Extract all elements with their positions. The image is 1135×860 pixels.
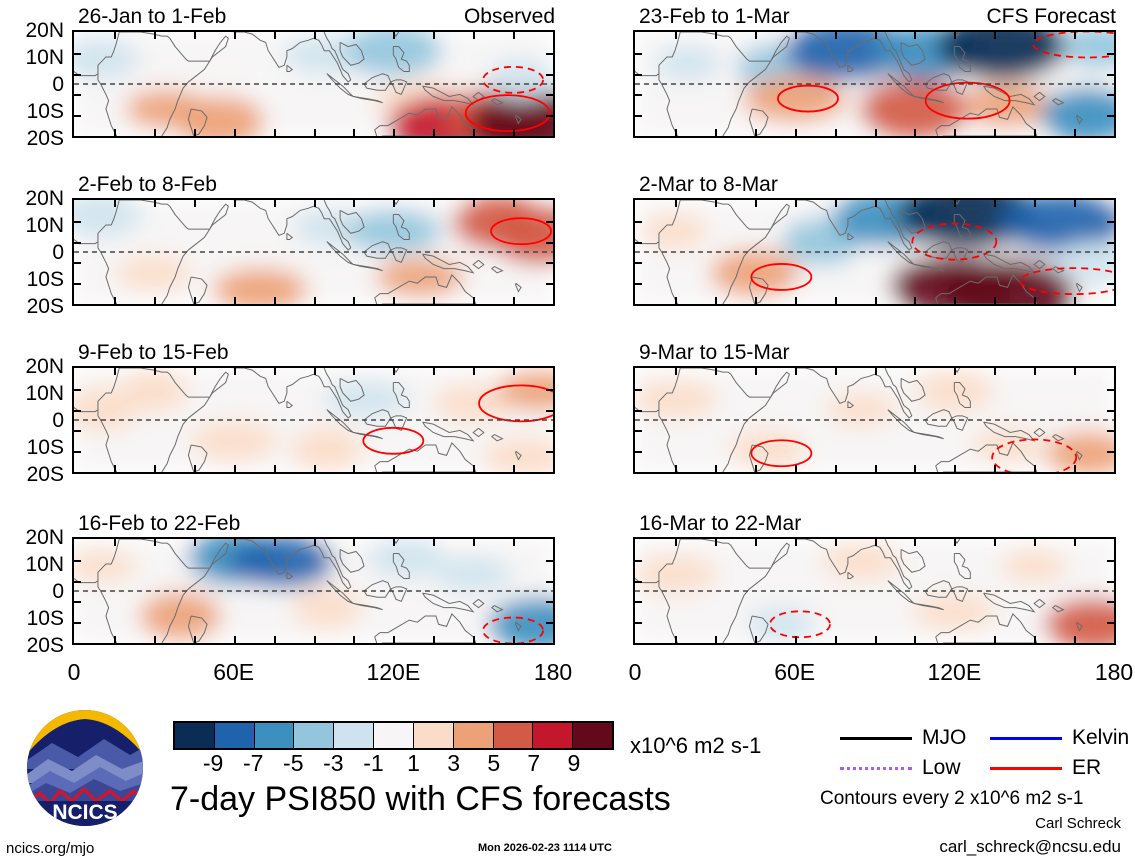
colorbar-swatch <box>494 723 534 748</box>
site-url[interactable]: ncics.org/mjo <box>6 841 94 856</box>
x-axis-tick-label: 180 <box>1069 661 1135 684</box>
y-axis-tick-label: 10S <box>0 269 64 290</box>
axis-tick <box>755 297 757 304</box>
axis-tick <box>353 368 355 375</box>
axis-tick <box>675 297 677 304</box>
y-axis-tick-label: 0 <box>0 74 64 95</box>
y-axis-tick-label: 20S <box>0 464 64 485</box>
axis-tick <box>914 297 916 304</box>
y-axis-tick-label: 0 <box>0 410 64 431</box>
figure-title: 7-day PSI850 with CFS forecasts <box>170 782 671 816</box>
axis-tick <box>635 560 642 562</box>
axis-tick <box>74 94 81 96</box>
axis-tick <box>875 539 877 546</box>
axis-tick <box>546 94 553 96</box>
axis-tick <box>194 297 196 304</box>
axis-tick <box>1107 94 1114 96</box>
axis-tick <box>433 539 435 546</box>
ncics-logo[interactable]: NCICS <box>26 709 144 827</box>
colorbar-swatch <box>573 723 612 748</box>
axis-tick <box>914 32 916 39</box>
y-axis-tick-label: 20N <box>0 527 64 548</box>
axis-tick <box>835 368 837 375</box>
map-field <box>635 200 1114 304</box>
y-axis-tick-label: 0 <box>0 581 64 602</box>
axis-tick <box>994 368 996 375</box>
axis-tick <box>914 539 916 546</box>
panel-title: 9-Mar to 15-Mar <box>639 342 790 363</box>
axis-tick <box>353 32 355 39</box>
author-email: carl_schreck@ncsu.edu <box>939 838 1121 855</box>
axis-tick <box>74 410 81 412</box>
axis-tick <box>914 129 916 136</box>
colorbar-swatch <box>414 723 454 748</box>
axis-tick <box>513 32 515 39</box>
axis-tick <box>353 539 355 546</box>
axis-tick <box>546 242 553 244</box>
panel-title: 16-Feb to 22-Feb <box>78 513 240 534</box>
axis-tick <box>1107 221 1114 223</box>
axis-tick <box>274 297 276 304</box>
axis-tick <box>74 221 81 223</box>
colorbar-swatch <box>533 723 573 748</box>
axis-tick <box>74 622 81 624</box>
axis-tick <box>1074 129 1076 136</box>
axis-tick <box>546 221 553 223</box>
axis-tick <box>513 465 515 472</box>
map-field <box>74 539 553 643</box>
axis-tick <box>835 297 837 304</box>
colorbar <box>173 721 614 750</box>
axis-tick <box>875 368 877 375</box>
colorbar-tick-label: 9 <box>549 752 599 775</box>
axis-tick <box>74 53 81 55</box>
colorbar-swatch <box>175 723 215 748</box>
axis-tick <box>114 297 116 304</box>
axis-tick <box>875 129 877 136</box>
axis-tick <box>433 129 435 136</box>
axis-tick <box>835 129 837 136</box>
map-panel <box>72 198 555 306</box>
map-field <box>74 200 553 304</box>
axis-tick <box>234 200 236 207</box>
axis-tick <box>1034 129 1036 136</box>
axis-tick <box>546 262 553 264</box>
axis-tick <box>755 200 757 207</box>
axis-tick <box>473 32 475 39</box>
x-axis-tick-label: 0 <box>590 661 680 684</box>
axis-tick <box>795 32 797 39</box>
x-axis-tick-label: 0 <box>29 661 119 684</box>
axis-tick <box>393 636 395 643</box>
axis-tick <box>875 32 877 39</box>
colorbar-swatch <box>334 723 374 748</box>
axis-tick <box>755 539 757 546</box>
axis-tick <box>74 115 81 117</box>
map-panel <box>633 30 1116 138</box>
axis-tick <box>393 32 395 39</box>
axis-tick <box>1107 389 1114 391</box>
axis-tick <box>1074 297 1076 304</box>
map-panel <box>633 198 1116 306</box>
colorbar-swatch <box>215 723 255 748</box>
axis-tick <box>994 200 996 207</box>
axis-tick <box>74 242 81 244</box>
axis-tick <box>274 539 276 546</box>
axis-tick <box>546 410 553 412</box>
axis-tick <box>675 200 677 207</box>
axis-tick <box>1107 53 1114 55</box>
axis-tick <box>274 32 276 39</box>
colorbar-units-label: x10^6 m2 s-1 <box>630 735 761 757</box>
axis-tick <box>1074 368 1076 375</box>
axis-tick <box>74 560 81 562</box>
axis-tick <box>795 297 797 304</box>
axis-tick <box>433 297 435 304</box>
axis-tick <box>1107 560 1114 562</box>
axis-tick <box>513 200 515 207</box>
axis-tick <box>314 297 316 304</box>
axis-tick <box>715 129 717 136</box>
panel-title: 23-Feb to 1-Mar <box>639 6 790 27</box>
axis-tick <box>994 129 996 136</box>
axis-tick <box>954 297 956 304</box>
axis-tick <box>154 368 156 375</box>
axis-tick <box>835 200 837 207</box>
axis-tick <box>1107 242 1114 244</box>
axis-tick <box>154 465 156 472</box>
axis-tick <box>994 636 996 643</box>
axis-tick <box>194 129 196 136</box>
axis-tick <box>546 622 553 624</box>
map-panel <box>72 366 555 474</box>
axis-tick <box>114 129 116 136</box>
author-name: Carl Schreck <box>1035 816 1121 831</box>
axis-tick <box>795 129 797 136</box>
axis-tick <box>954 465 956 472</box>
axis-tick <box>875 465 877 472</box>
axis-tick <box>1074 200 1076 207</box>
y-axis-tick-label: 20S <box>0 128 64 149</box>
axis-tick <box>353 297 355 304</box>
axis-tick <box>74 389 81 391</box>
y-axis-tick-label: 20S <box>0 296 64 317</box>
axis-tick <box>875 200 877 207</box>
axis-tick <box>314 465 316 472</box>
axis-tick <box>954 539 956 546</box>
axis-tick <box>835 465 837 472</box>
axis-tick <box>755 32 757 39</box>
axis-tick <box>1107 601 1114 603</box>
axis-tick <box>1034 539 1036 546</box>
axis-tick <box>914 465 916 472</box>
map-panel <box>72 30 555 138</box>
axis-tick <box>473 297 475 304</box>
axis-tick <box>154 636 156 643</box>
axis-tick <box>875 297 877 304</box>
axis-tick <box>513 636 515 643</box>
axis-tick <box>1107 283 1114 285</box>
axis-tick <box>675 32 677 39</box>
axis-tick <box>795 539 797 546</box>
legend-label: ER <box>1072 757 1101 778</box>
x-axis-tick-label: 120E <box>909 661 999 684</box>
axis-tick <box>755 465 757 472</box>
legend-label: MJO <box>922 727 966 748</box>
axis-tick <box>234 636 236 643</box>
y-axis-tick-label: 10N <box>0 383 64 404</box>
map-field <box>74 368 553 472</box>
map-field <box>635 32 1114 136</box>
axis-tick <box>74 581 81 583</box>
axis-tick <box>755 368 757 375</box>
axis-tick <box>314 636 316 643</box>
axis-tick <box>795 368 797 375</box>
axis-tick <box>914 636 916 643</box>
axis-tick <box>194 539 196 546</box>
axis-tick <box>1034 32 1036 39</box>
axis-tick <box>635 430 642 432</box>
axis-tick <box>835 539 837 546</box>
axis-tick <box>635 283 642 285</box>
panel-title: 2-Mar to 8-Mar <box>639 174 778 195</box>
axis-tick <box>635 451 642 453</box>
axis-tick <box>546 53 553 55</box>
axis-tick <box>994 539 996 546</box>
axis-tick <box>274 129 276 136</box>
map-field <box>74 32 553 136</box>
axis-tick <box>234 368 236 375</box>
axis-tick <box>1074 636 1076 643</box>
axis-tick <box>74 74 81 76</box>
axis-tick <box>954 636 956 643</box>
axis-tick <box>546 74 553 76</box>
axis-tick <box>914 200 916 207</box>
axis-tick <box>954 368 956 375</box>
axis-tick <box>353 200 355 207</box>
axis-tick <box>635 389 642 391</box>
colorbar-swatch <box>255 723 295 748</box>
axis-tick <box>546 283 553 285</box>
axis-tick <box>74 283 81 285</box>
contour-interval-note: Contours every 2 x10^6 m2 s-1 <box>820 789 1083 808</box>
axis-tick <box>393 297 395 304</box>
axis-tick <box>74 601 81 603</box>
legend-line-low <box>840 767 912 770</box>
axis-tick <box>473 465 475 472</box>
x-axis-tick-label: 180 <box>508 661 598 684</box>
axis-tick <box>795 200 797 207</box>
axis-tick <box>473 368 475 375</box>
axis-tick <box>994 32 996 39</box>
axis-tick <box>635 53 642 55</box>
axis-tick <box>1074 539 1076 546</box>
colorbar-swatch <box>374 723 414 748</box>
axis-tick <box>513 129 515 136</box>
axis-tick <box>1034 465 1036 472</box>
axis-tick <box>715 32 717 39</box>
axis-tick <box>1107 262 1114 264</box>
axis-tick <box>513 368 515 375</box>
axis-tick <box>546 451 553 453</box>
axis-tick <box>1034 368 1036 375</box>
axis-tick <box>154 32 156 39</box>
axis-tick <box>1107 622 1114 624</box>
axis-tick <box>795 636 797 643</box>
axis-tick <box>675 368 677 375</box>
axis-tick <box>635 601 642 603</box>
axis-tick <box>473 129 475 136</box>
colorbar-swatch <box>454 723 494 748</box>
colorbar-swatch <box>294 723 334 748</box>
axis-tick <box>433 465 435 472</box>
axis-tick <box>234 539 236 546</box>
panel-title: 26-Jan to 1-Feb <box>78 6 226 27</box>
axis-tick <box>433 200 435 207</box>
axis-tick <box>473 200 475 207</box>
axis-tick <box>875 636 877 643</box>
axis-tick <box>114 636 116 643</box>
axis-tick <box>715 297 717 304</box>
axis-tick <box>393 539 395 546</box>
axis-tick <box>114 539 116 546</box>
axis-tick <box>314 200 316 207</box>
axis-tick <box>635 581 642 583</box>
axis-tick <box>635 410 642 412</box>
axis-tick <box>715 200 717 207</box>
ncics-logo-text: NCICS <box>52 801 117 824</box>
y-axis-tick-label: 20S <box>0 635 64 656</box>
axis-tick <box>433 368 435 375</box>
axis-tick <box>194 636 196 643</box>
y-axis-tick-label: 10S <box>0 437 64 458</box>
axis-tick <box>755 129 757 136</box>
axis-tick <box>675 539 677 546</box>
axis-tick <box>74 262 81 264</box>
map-panel <box>633 537 1116 645</box>
axis-tick <box>74 430 81 432</box>
axis-tick <box>635 622 642 624</box>
axis-tick <box>1107 74 1114 76</box>
axis-tick <box>194 368 196 375</box>
axis-tick <box>675 465 677 472</box>
legend-line-kelvin-x2 <box>990 737 1062 740</box>
axis-tick <box>513 297 515 304</box>
axis-tick <box>393 129 395 136</box>
axis-tick <box>954 129 956 136</box>
axis-tick <box>1107 581 1114 583</box>
axis-tick <box>675 129 677 136</box>
axis-tick <box>314 32 316 39</box>
axis-tick <box>1034 636 1036 643</box>
axis-tick <box>715 539 717 546</box>
ncics-logo-svg: NCICS <box>26 709 144 827</box>
legend-line-er <box>990 767 1062 770</box>
axis-tick <box>234 297 236 304</box>
axis-tick <box>1034 200 1036 207</box>
y-axis-tick-label: 10S <box>0 608 64 629</box>
y-axis-tick-label: 10N <box>0 215 64 236</box>
legend-label: Low <box>922 757 961 778</box>
axis-tick <box>194 200 196 207</box>
axis-tick <box>114 465 116 472</box>
axis-tick <box>546 601 553 603</box>
panel-title: 9-Feb to 15-Feb <box>78 342 229 363</box>
axis-tick <box>994 465 996 472</box>
axis-tick <box>715 368 717 375</box>
axis-tick <box>114 32 116 39</box>
axis-tick <box>546 581 553 583</box>
y-axis-tick-label: 10N <box>0 47 64 68</box>
y-axis-tick-label: 10N <box>0 554 64 575</box>
axis-tick <box>154 129 156 136</box>
y-axis-tick-label: 20N <box>0 356 64 377</box>
x-axis-tick-label: 60E <box>189 661 279 684</box>
axis-tick <box>1107 410 1114 412</box>
axis-tick <box>715 636 717 643</box>
axis-tick <box>546 389 553 391</box>
axis-tick <box>546 560 553 562</box>
axis-tick <box>546 115 553 117</box>
axis-tick <box>234 129 236 136</box>
axis-tick <box>274 465 276 472</box>
panel-title: 16-Mar to 22-Mar <box>639 513 801 534</box>
axis-tick <box>635 74 642 76</box>
panel-title: 2-Feb to 8-Feb <box>78 174 217 195</box>
axis-tick <box>914 368 916 375</box>
axis-tick <box>234 32 236 39</box>
axis-tick <box>635 262 642 264</box>
axis-tick <box>473 636 475 643</box>
axis-tick <box>274 368 276 375</box>
y-axis-tick-label: 20N <box>0 20 64 41</box>
axis-tick <box>194 32 196 39</box>
map-field <box>635 539 1114 643</box>
y-axis-tick-label: 20N <box>0 188 64 209</box>
axis-tick <box>835 636 837 643</box>
axis-tick <box>393 465 395 472</box>
axis-tick <box>513 539 515 546</box>
map-panel <box>633 366 1116 474</box>
axis-tick <box>954 32 956 39</box>
legend-line-mjo <box>840 737 912 740</box>
axis-tick <box>274 200 276 207</box>
axis-tick <box>154 297 156 304</box>
axis-tick <box>433 32 435 39</box>
axis-tick <box>154 200 156 207</box>
axis-tick <box>1074 465 1076 472</box>
axis-tick <box>314 539 316 546</box>
axis-tick <box>635 242 642 244</box>
axis-tick <box>473 539 475 546</box>
axis-tick <box>1107 430 1114 432</box>
axis-tick <box>114 200 116 207</box>
axis-tick <box>393 368 395 375</box>
axis-tick <box>353 465 355 472</box>
axis-tick <box>353 129 355 136</box>
axis-tick <box>635 115 642 117</box>
axis-tick <box>835 32 837 39</box>
x-axis-tick-label: 120E <box>348 661 438 684</box>
map-panel <box>72 537 555 645</box>
axis-tick <box>274 636 276 643</box>
axis-tick <box>1107 115 1114 117</box>
y-axis-tick-label: 10S <box>0 101 64 122</box>
axis-tick <box>675 636 677 643</box>
axis-tick <box>546 430 553 432</box>
axis-tick <box>795 465 797 472</box>
axis-tick <box>635 221 642 223</box>
